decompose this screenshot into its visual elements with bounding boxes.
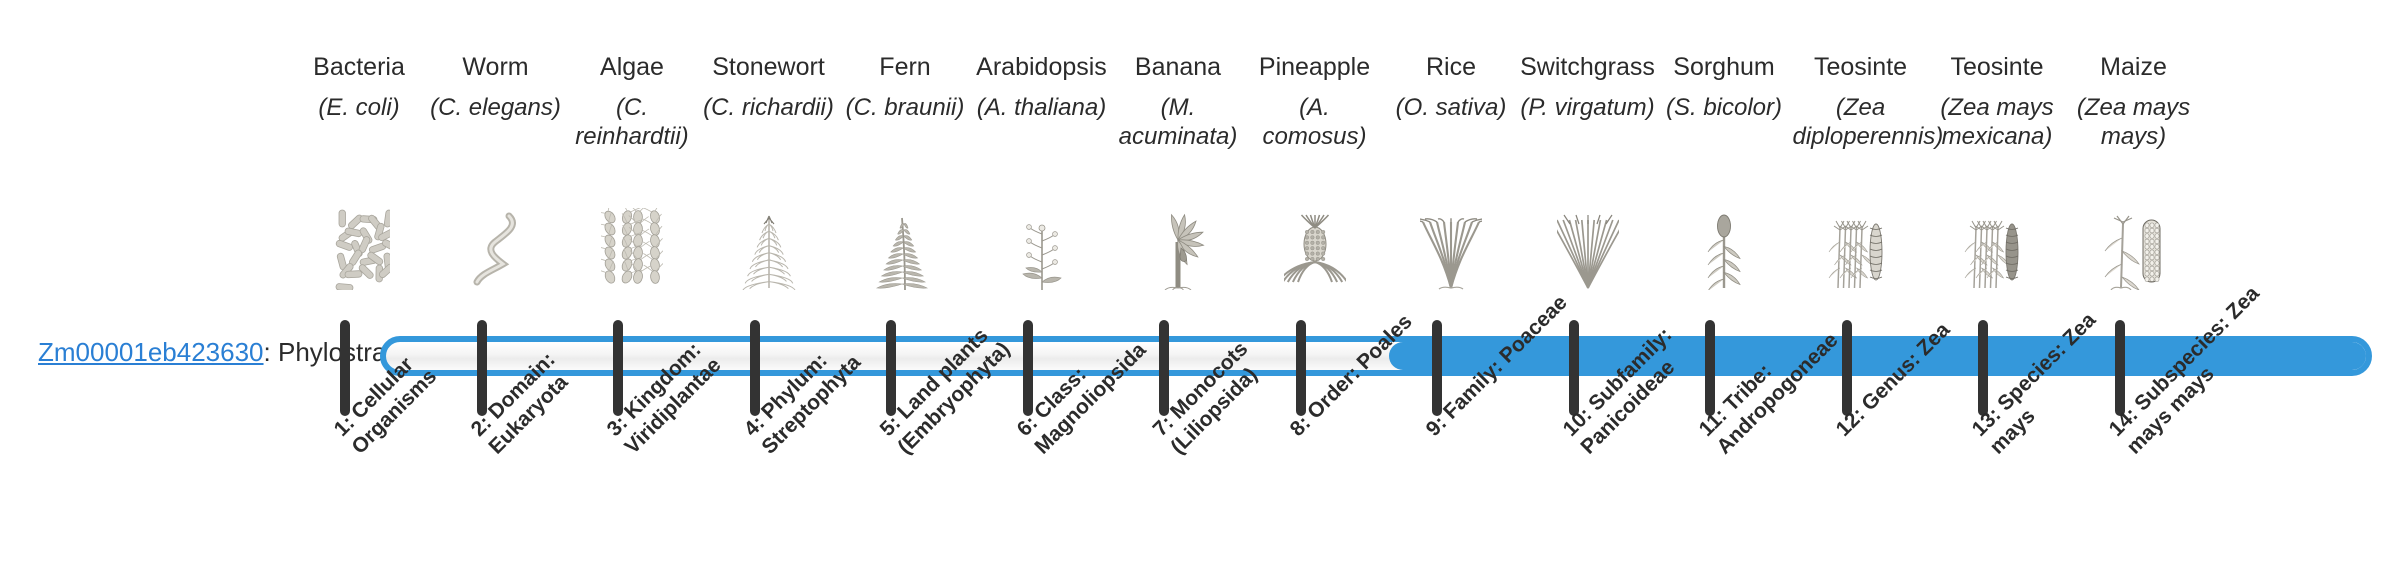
phylostratigraphy-figure: Zm00001eb423630: Phylostratum 9 Bacteria… xyxy=(0,0,2400,580)
taxonomy-rank-labels: 1: Cellular Organisms2: Domain: Eukaryot… xyxy=(0,0,2400,580)
taxonomy-rank-label: 9: Family: Poaceae xyxy=(1421,276,1587,442)
